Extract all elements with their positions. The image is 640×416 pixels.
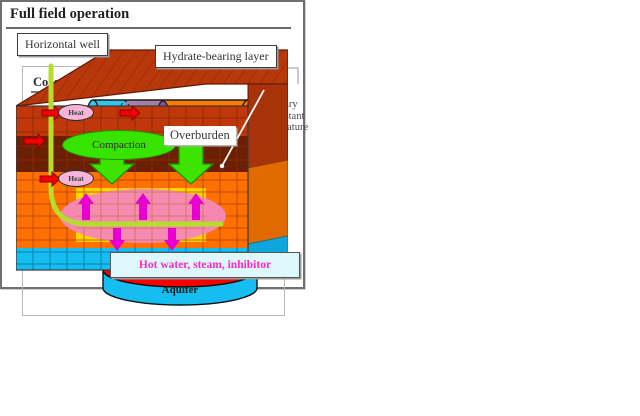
compaction-pill: Compaction <box>62 130 176 160</box>
aquifer-label: Aquifer <box>110 284 250 296</box>
injection-label: Hot water, steam, inhibitor <box>139 259 271 271</box>
injection-callout[interactable]: Hot water, steam, inhibitor <box>110 252 300 278</box>
heat-pill-lower: Heat <box>58 170 94 187</box>
horizontal-well-label: Horizontal well <box>25 37 100 51</box>
overburden-label: Overburden <box>170 128 230 142</box>
heat-pill-upper: Heat <box>58 104 94 121</box>
overburden-callout: Overburden <box>164 126 236 145</box>
horizontal-well-callout[interactable]: Horizontal well <box>17 33 108 56</box>
reservoir-3d-block <box>16 48 288 273</box>
hydrate-bearing-layer-label-field: Hydrate-bearing layer <box>163 49 269 63</box>
compaction-label: Compaction <box>92 139 146 151</box>
hydrate-bearing-layer-callout[interactable]: Hydrate-bearing layer <box>155 45 277 68</box>
full-field-operation-title: Full field operation <box>10 6 129 23</box>
full-field-operation-panel: Full field operation <box>0 0 305 289</box>
heat-label-lower: Heat <box>68 174 83 183</box>
heat-label-upper: Heat <box>68 108 83 117</box>
